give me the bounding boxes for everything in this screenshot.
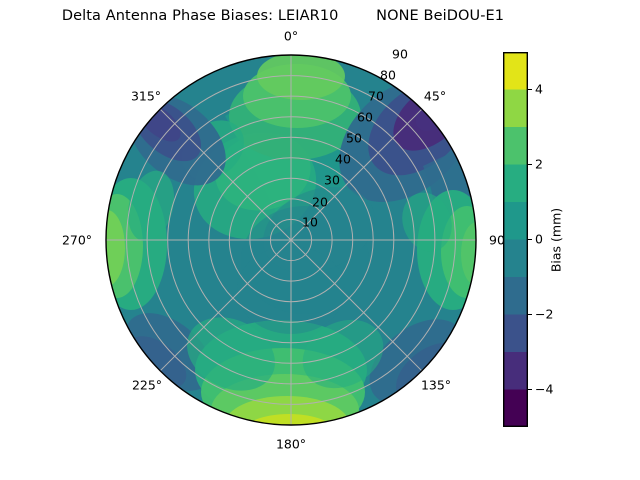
colorbar[interactable]: [503, 52, 528, 427]
colorbar-tickmark-0: [528, 239, 532, 240]
colorbar-gradient: [503, 52, 528, 427]
angular-tick-225: 225°: [132, 378, 162, 393]
colorbar-ticklabel-0: 0: [535, 232, 543, 247]
radial-tick-20: 20: [312, 195, 328, 210]
radial-tick-60: 60: [357, 110, 373, 125]
colorbar-tickmark-2: [528, 164, 532, 165]
colorbar-ticklabel-4: 4: [535, 82, 543, 97]
angular-tick-315: 315°: [131, 89, 161, 104]
figure-title: Delta Antenna Phase Biases: LEIAR10 NONE…: [0, 8, 566, 24]
angular-tick-135: 135°: [421, 378, 451, 393]
radial-tick-10: 10: [302, 215, 318, 230]
radial-tick-70: 70: [368, 89, 384, 104]
angular-tick-0: 0°: [284, 29, 298, 44]
colorbar-ticklabel-neg4: −4: [535, 382, 553, 397]
colorbar-bands: [503, 52, 528, 427]
radial-tick-40: 40: [335, 152, 351, 167]
colorbar-tickmark-neg2: [528, 314, 532, 315]
colorbar-ticklabel-2: 2: [535, 157, 543, 172]
angular-tick-180: 180°: [276, 437, 306, 452]
colorbar-ticklabel-neg2: −2: [535, 307, 553, 322]
colorbar-title: Bias (mm): [549, 208, 564, 272]
polar-plot-svg: [105, 54, 477, 426]
polar-grid: [106, 55, 476, 425]
colorbar-tickmark-4: [528, 89, 532, 90]
radial-tick-80: 80: [380, 68, 396, 83]
angular-tick-270: 270°: [62, 233, 92, 248]
radial-tick-50: 50: [346, 131, 362, 146]
colorbar-tickmark-neg4: [528, 389, 532, 390]
polar-axes[interactable]: 0° 45° 90 135° 180° 225° 270° 315° 10 20…: [105, 54, 477, 426]
radial-tick-90: 90: [392, 47, 408, 62]
angular-tick-45: 45°: [424, 89, 446, 104]
figure-canvas: Delta Antenna Phase Biases: LEIAR10 NONE…: [0, 0, 640, 480]
radial-tick-30: 30: [324, 173, 340, 188]
